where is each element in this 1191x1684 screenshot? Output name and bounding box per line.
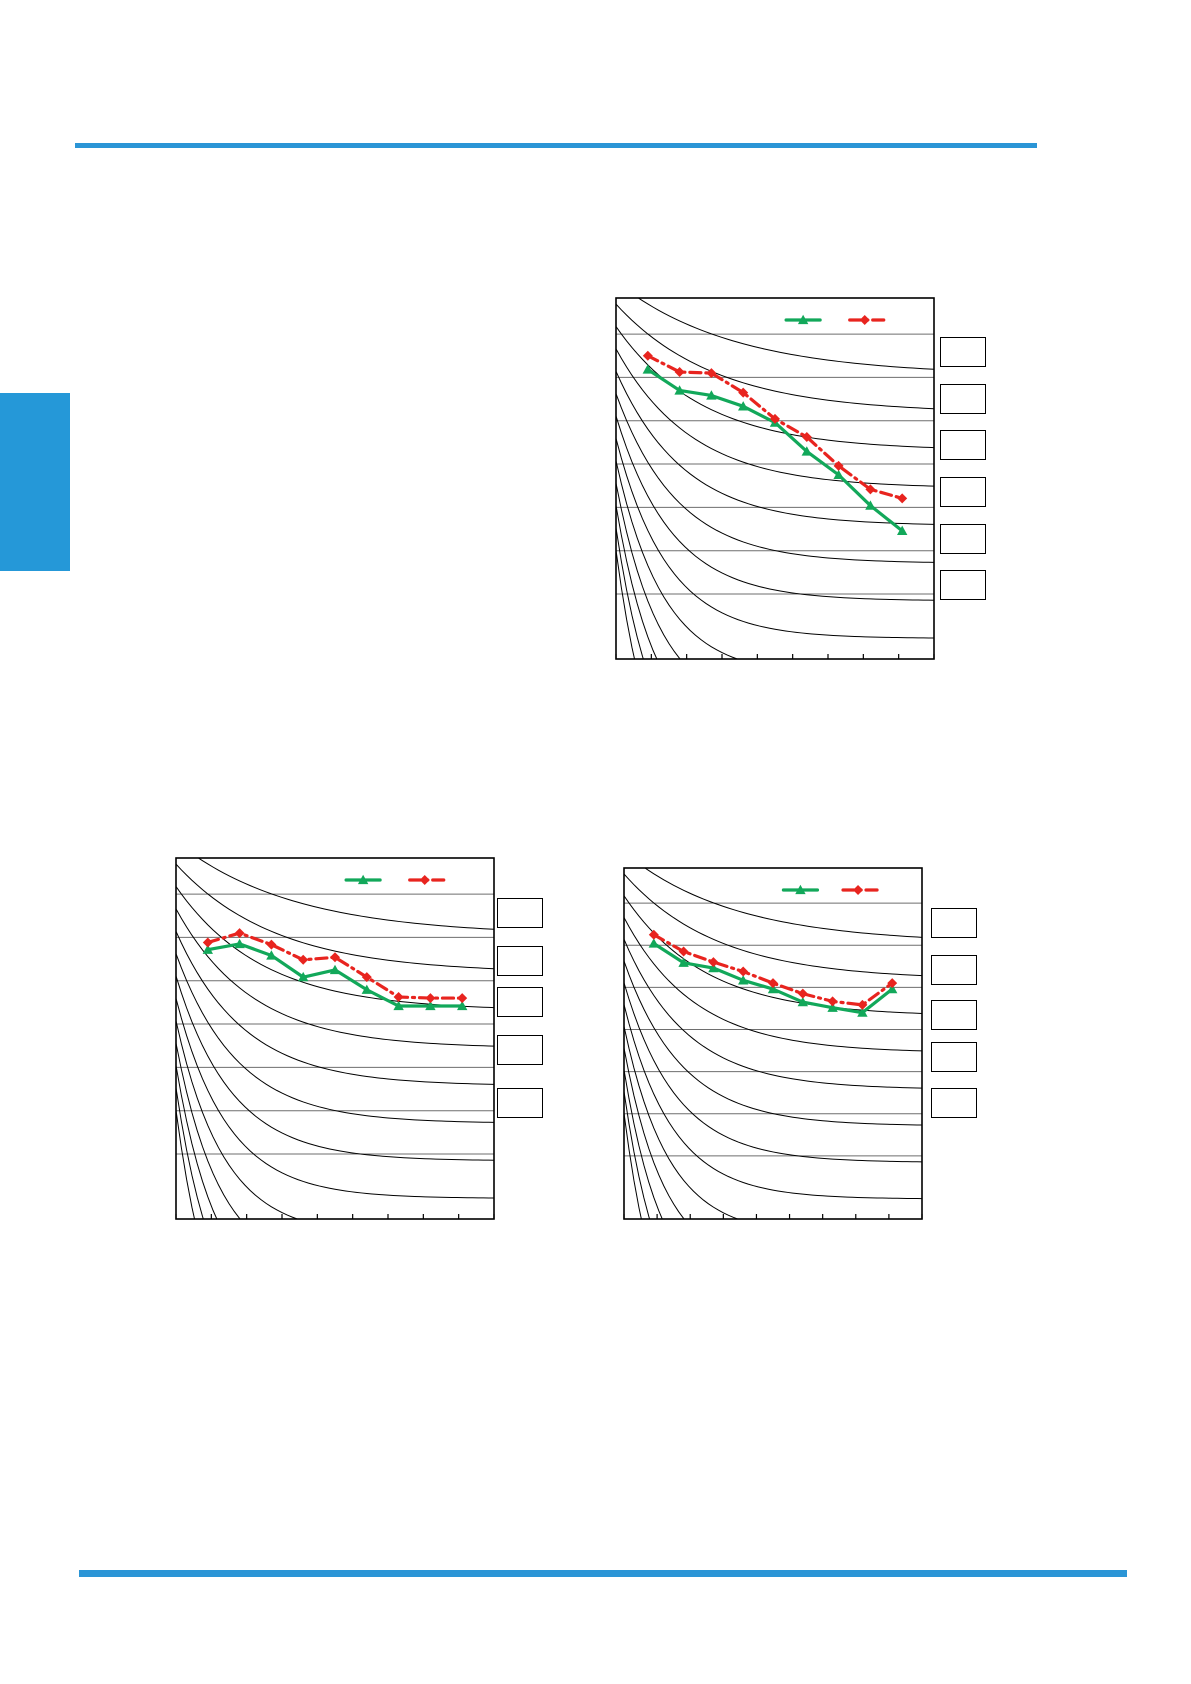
label-box-br-5[interactable] [931, 1088, 977, 1118]
label-box-4[interactable] [940, 477, 986, 507]
chart-bottom-left [175, 857, 495, 1220]
label-box-6[interactable] [940, 570, 986, 600]
label-box-bl-2[interactable] [497, 946, 543, 976]
chart-top-right [615, 297, 935, 660]
label-box-br-2[interactable] [931, 955, 977, 985]
label-box-5[interactable] [940, 524, 986, 554]
header-rule [75, 143, 1037, 148]
document-page [0, 0, 1191, 1684]
label-box-bl-3[interactable] [497, 987, 543, 1017]
label-box-bl-1[interactable] [497, 898, 543, 928]
label-box-3[interactable] [940, 430, 986, 460]
footer-rule [79, 1570, 1127, 1577]
label-box-1[interactable] [940, 337, 986, 367]
chart-bottom-right [623, 867, 923, 1220]
label-box-br-1[interactable] [931, 908, 977, 938]
label-box-2[interactable] [940, 384, 986, 414]
label-box-br-4[interactable] [931, 1042, 977, 1072]
label-box-bl-5[interactable] [497, 1088, 543, 1118]
label-box-bl-4[interactable] [497, 1035, 543, 1065]
label-box-br-3[interactable] [931, 1000, 977, 1030]
side-section-tab [0, 393, 70, 571]
